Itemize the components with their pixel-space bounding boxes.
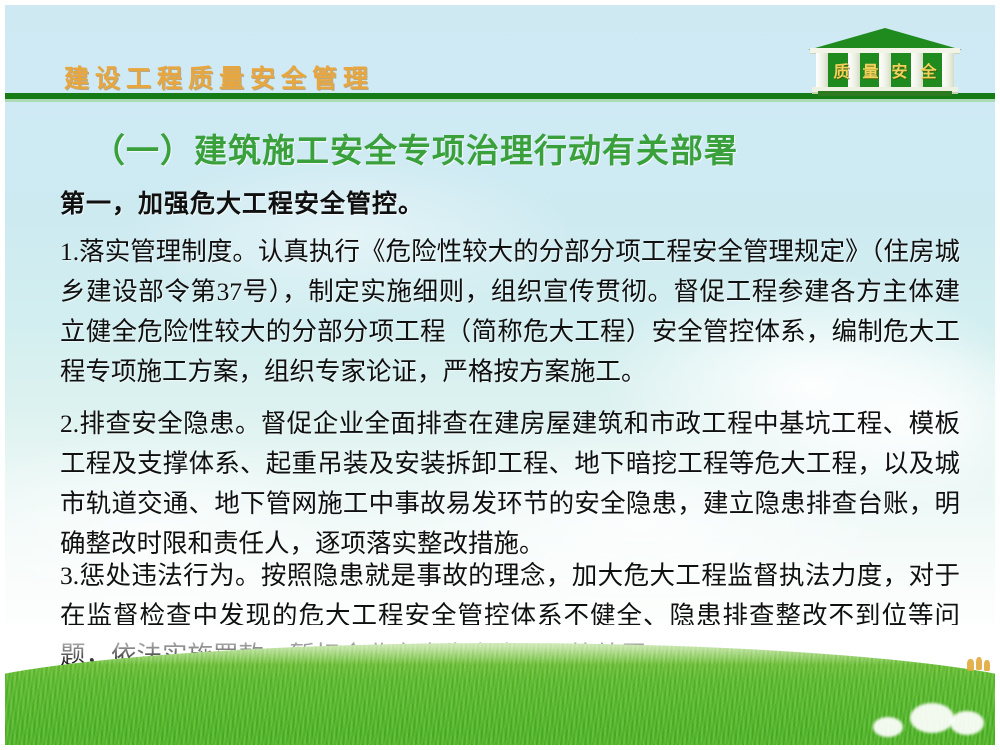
logo-roof-icon [808,28,962,50]
grass-fade-overlay [5,625,995,665]
grass-tuft [950,711,984,735]
header-title: 建设工程质量安全管理 [64,59,374,95]
paragraph-text: 1.落实管理制度。认真执行《危险性较大的分部分项工程安全管理规定》（住房城乡建设… [60,232,960,392]
shrub-decoration [976,657,982,670]
slide-title: （一）建筑施工安全专项治理行动有关部署 [92,124,738,172]
shrub-decoration [984,660,990,671]
body-paragraph-2: 2.排查安全隐患。督促企业全面排查在建房屋建筑和市政工程中基坑工程、模板工程及支… [60,404,960,564]
presentation-slide: 建设工程质量安全管理 质量安全 （一）建筑施工安全专项治理行动有关部署 第一，加… [0,0,1000,750]
grass-footer-decoration [5,625,995,745]
grass-tuft [873,717,903,737]
body-paragraph-1: 1.落实管理制度。认真执行《危险性较大的分部分项工程安全管理规定》（住房城乡建设… [60,232,960,392]
lead-statement: 第一，加强危大工程安全管控。 [60,184,424,220]
grass-tuft [910,703,954,733]
shrub-decoration [967,659,974,671]
logo-text: 质量安全 [806,58,964,82]
header-divider-rule-highlight [5,99,995,102]
quality-safety-building-logo: 质量安全 [806,28,964,98]
paragraph-text: 2.排查安全隐患。督促企业全面排查在建房屋建筑和市政工程中基坑工程、模板工程及支… [60,404,960,564]
logo-base-shadow [818,91,952,96]
